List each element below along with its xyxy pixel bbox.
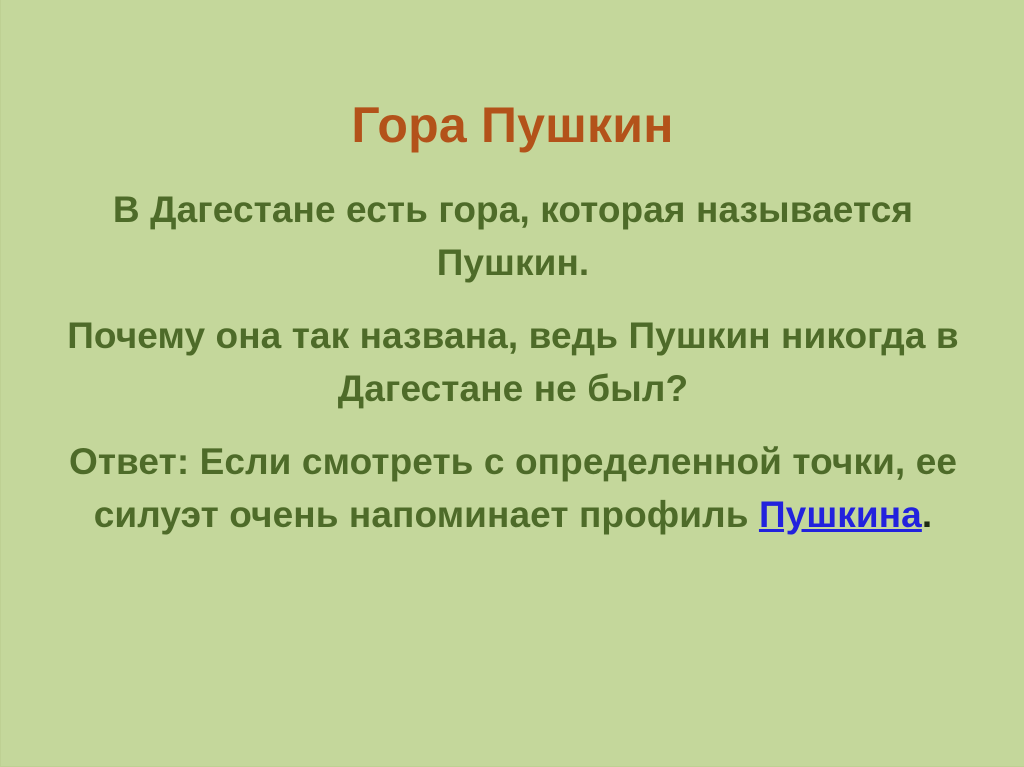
page-title: Гора Пушкин: [1, 96, 1024, 154]
paragraph-question: Почему она так названа, ведь Пушкин нико…: [65, 309, 961, 415]
pushkin-hyperlink[interactable]: Пушкина: [759, 494, 922, 535]
paragraph-intro: В Дагестане есть гора, которая называетс…: [65, 183, 961, 289]
answer-trailing-period: .: [922, 494, 932, 535]
slide-body: В Дагестане есть гора, которая называетс…: [65, 183, 961, 541]
slide-canvas: Гора Пушкин В Дагестане есть гора, котор…: [0, 0, 1024, 767]
paragraph-answer: Ответ: Если смотреть с определенной точк…: [65, 435, 961, 541]
